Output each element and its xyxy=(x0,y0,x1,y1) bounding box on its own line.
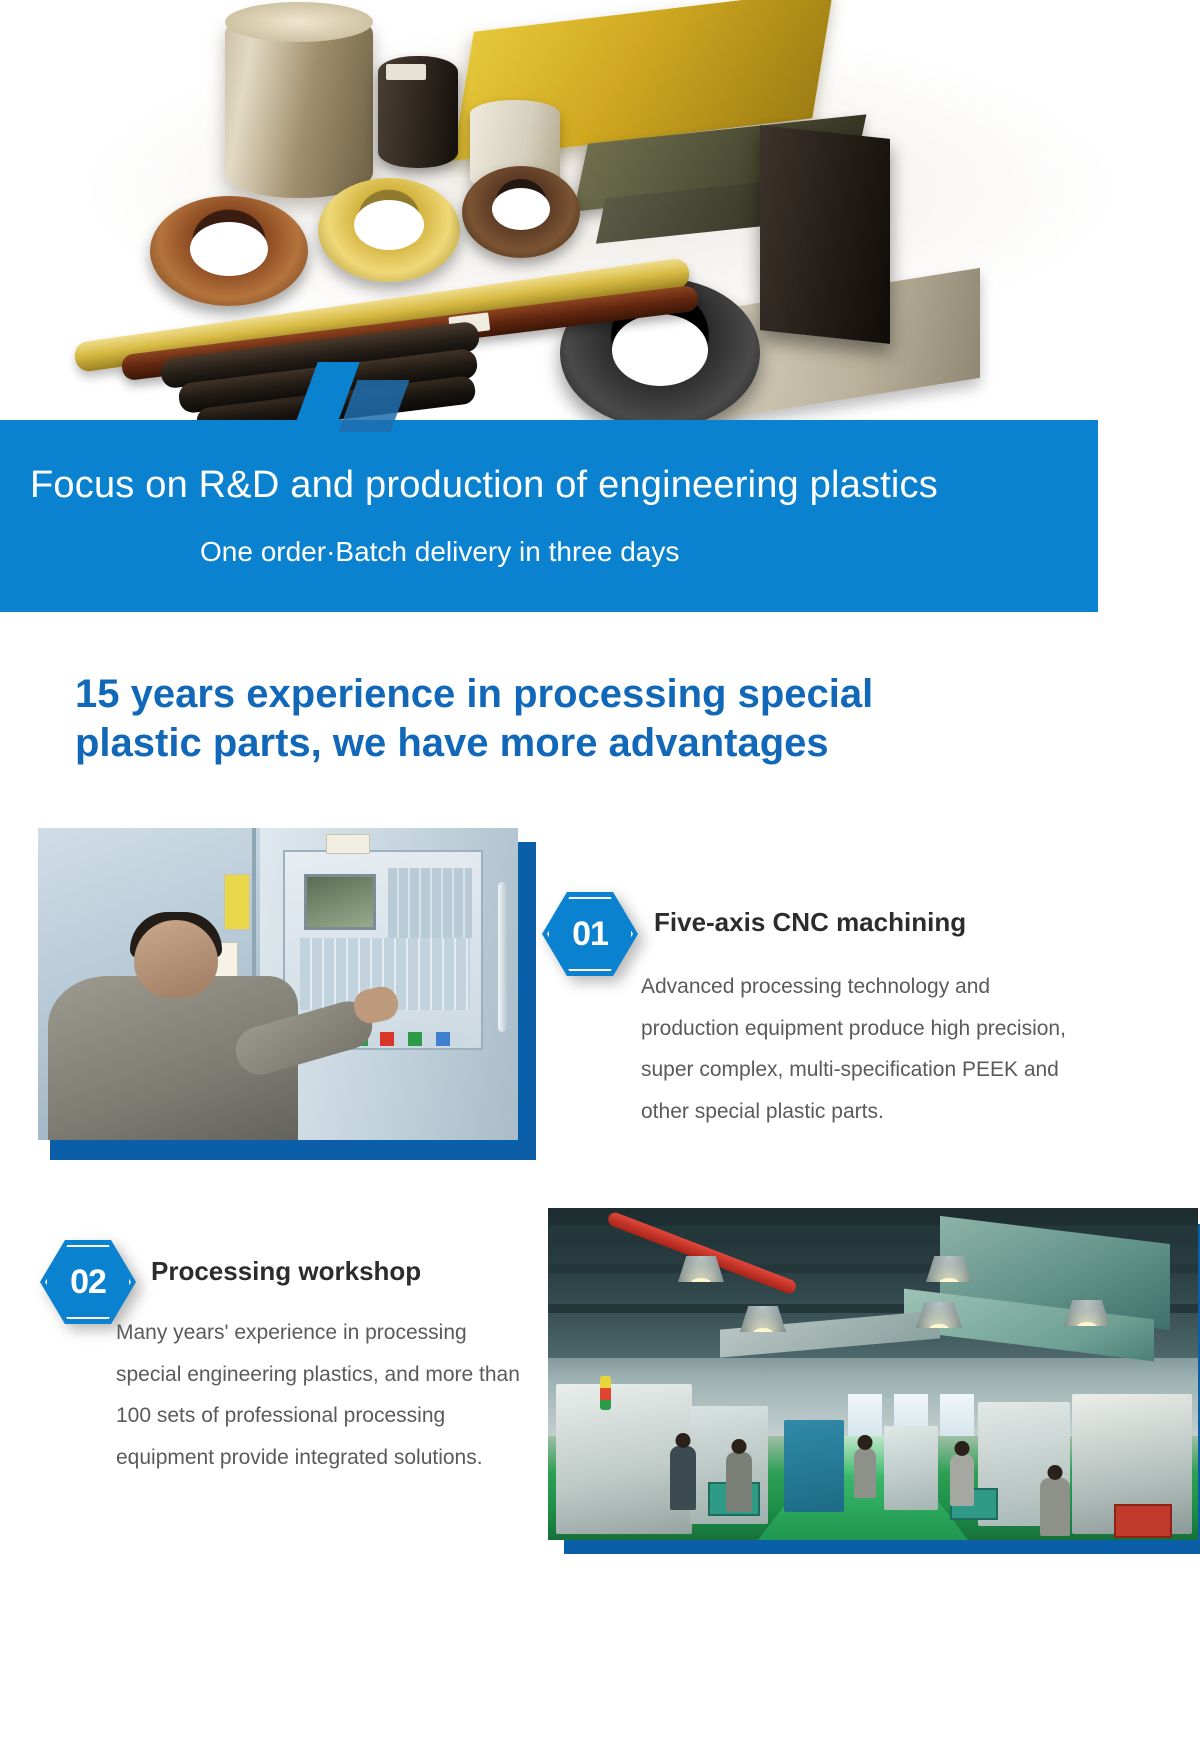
banner-primary-tagline: Focus on R&D and production of engineeri… xyxy=(30,464,938,507)
cnc-warning-label-2 xyxy=(326,834,370,854)
worker-4 xyxy=(950,1454,974,1506)
signal-tower-icon xyxy=(600,1376,611,1410)
worker-1 xyxy=(670,1446,696,1510)
feature-2-photo xyxy=(548,1208,1200,1548)
blue-tagline-banner: Focus on R&D and production of engineeri… xyxy=(0,420,1098,612)
page-title: 15 years experience in processing specia… xyxy=(75,670,1075,768)
workshop-photo xyxy=(548,1208,1198,1540)
hero-product-photo xyxy=(0,0,1200,422)
feature-1-title: Five-axis CNC machining xyxy=(654,907,966,938)
worker-3 xyxy=(854,1448,876,1498)
product-dark-cylinder xyxy=(378,56,458,168)
material-cart-3 xyxy=(1114,1504,1172,1538)
product-large-rod xyxy=(225,8,373,198)
cnc-machine-5 xyxy=(784,1420,844,1512)
page-title-line-1: 15 years experience in processing specia… xyxy=(75,672,873,716)
banner-secondary-tagline: One order·Batch delivery in three days xyxy=(200,536,679,568)
feature-2-description: Many years' experience in processing spe… xyxy=(116,1312,536,1478)
workshop-scene xyxy=(548,1208,1198,1540)
feature-2-title: Processing workshop xyxy=(151,1256,421,1287)
worker-5 xyxy=(1040,1478,1070,1536)
cnc-display-screen xyxy=(304,874,376,930)
feature-1-number-badge: 01 xyxy=(542,892,638,976)
product-gold-ring xyxy=(318,178,460,282)
page-title-line-2: plastic parts, we have more advantages xyxy=(75,719,1075,768)
feature-1-number: 01 xyxy=(542,892,638,976)
feature-1-description: Advanced processing technology and produ… xyxy=(641,966,1081,1132)
cnc-machine-6 xyxy=(884,1426,938,1510)
cnc-scene xyxy=(38,828,518,1140)
cnc-warning-label-1 xyxy=(224,874,250,930)
operator-head xyxy=(134,920,218,998)
feature-1-photo xyxy=(38,828,528,1148)
product-black-block xyxy=(760,125,890,344)
product-brown-ring xyxy=(150,196,308,306)
product-detail-page: Focus on R&D and production of engineeri… xyxy=(0,0,1200,1752)
cnc-machine-photo xyxy=(38,828,518,1140)
product-dark-ring xyxy=(462,166,580,258)
worker-2 xyxy=(726,1452,752,1512)
cnc-door-handle xyxy=(498,882,507,1032)
cnc-keypad-upper xyxy=(388,868,472,938)
